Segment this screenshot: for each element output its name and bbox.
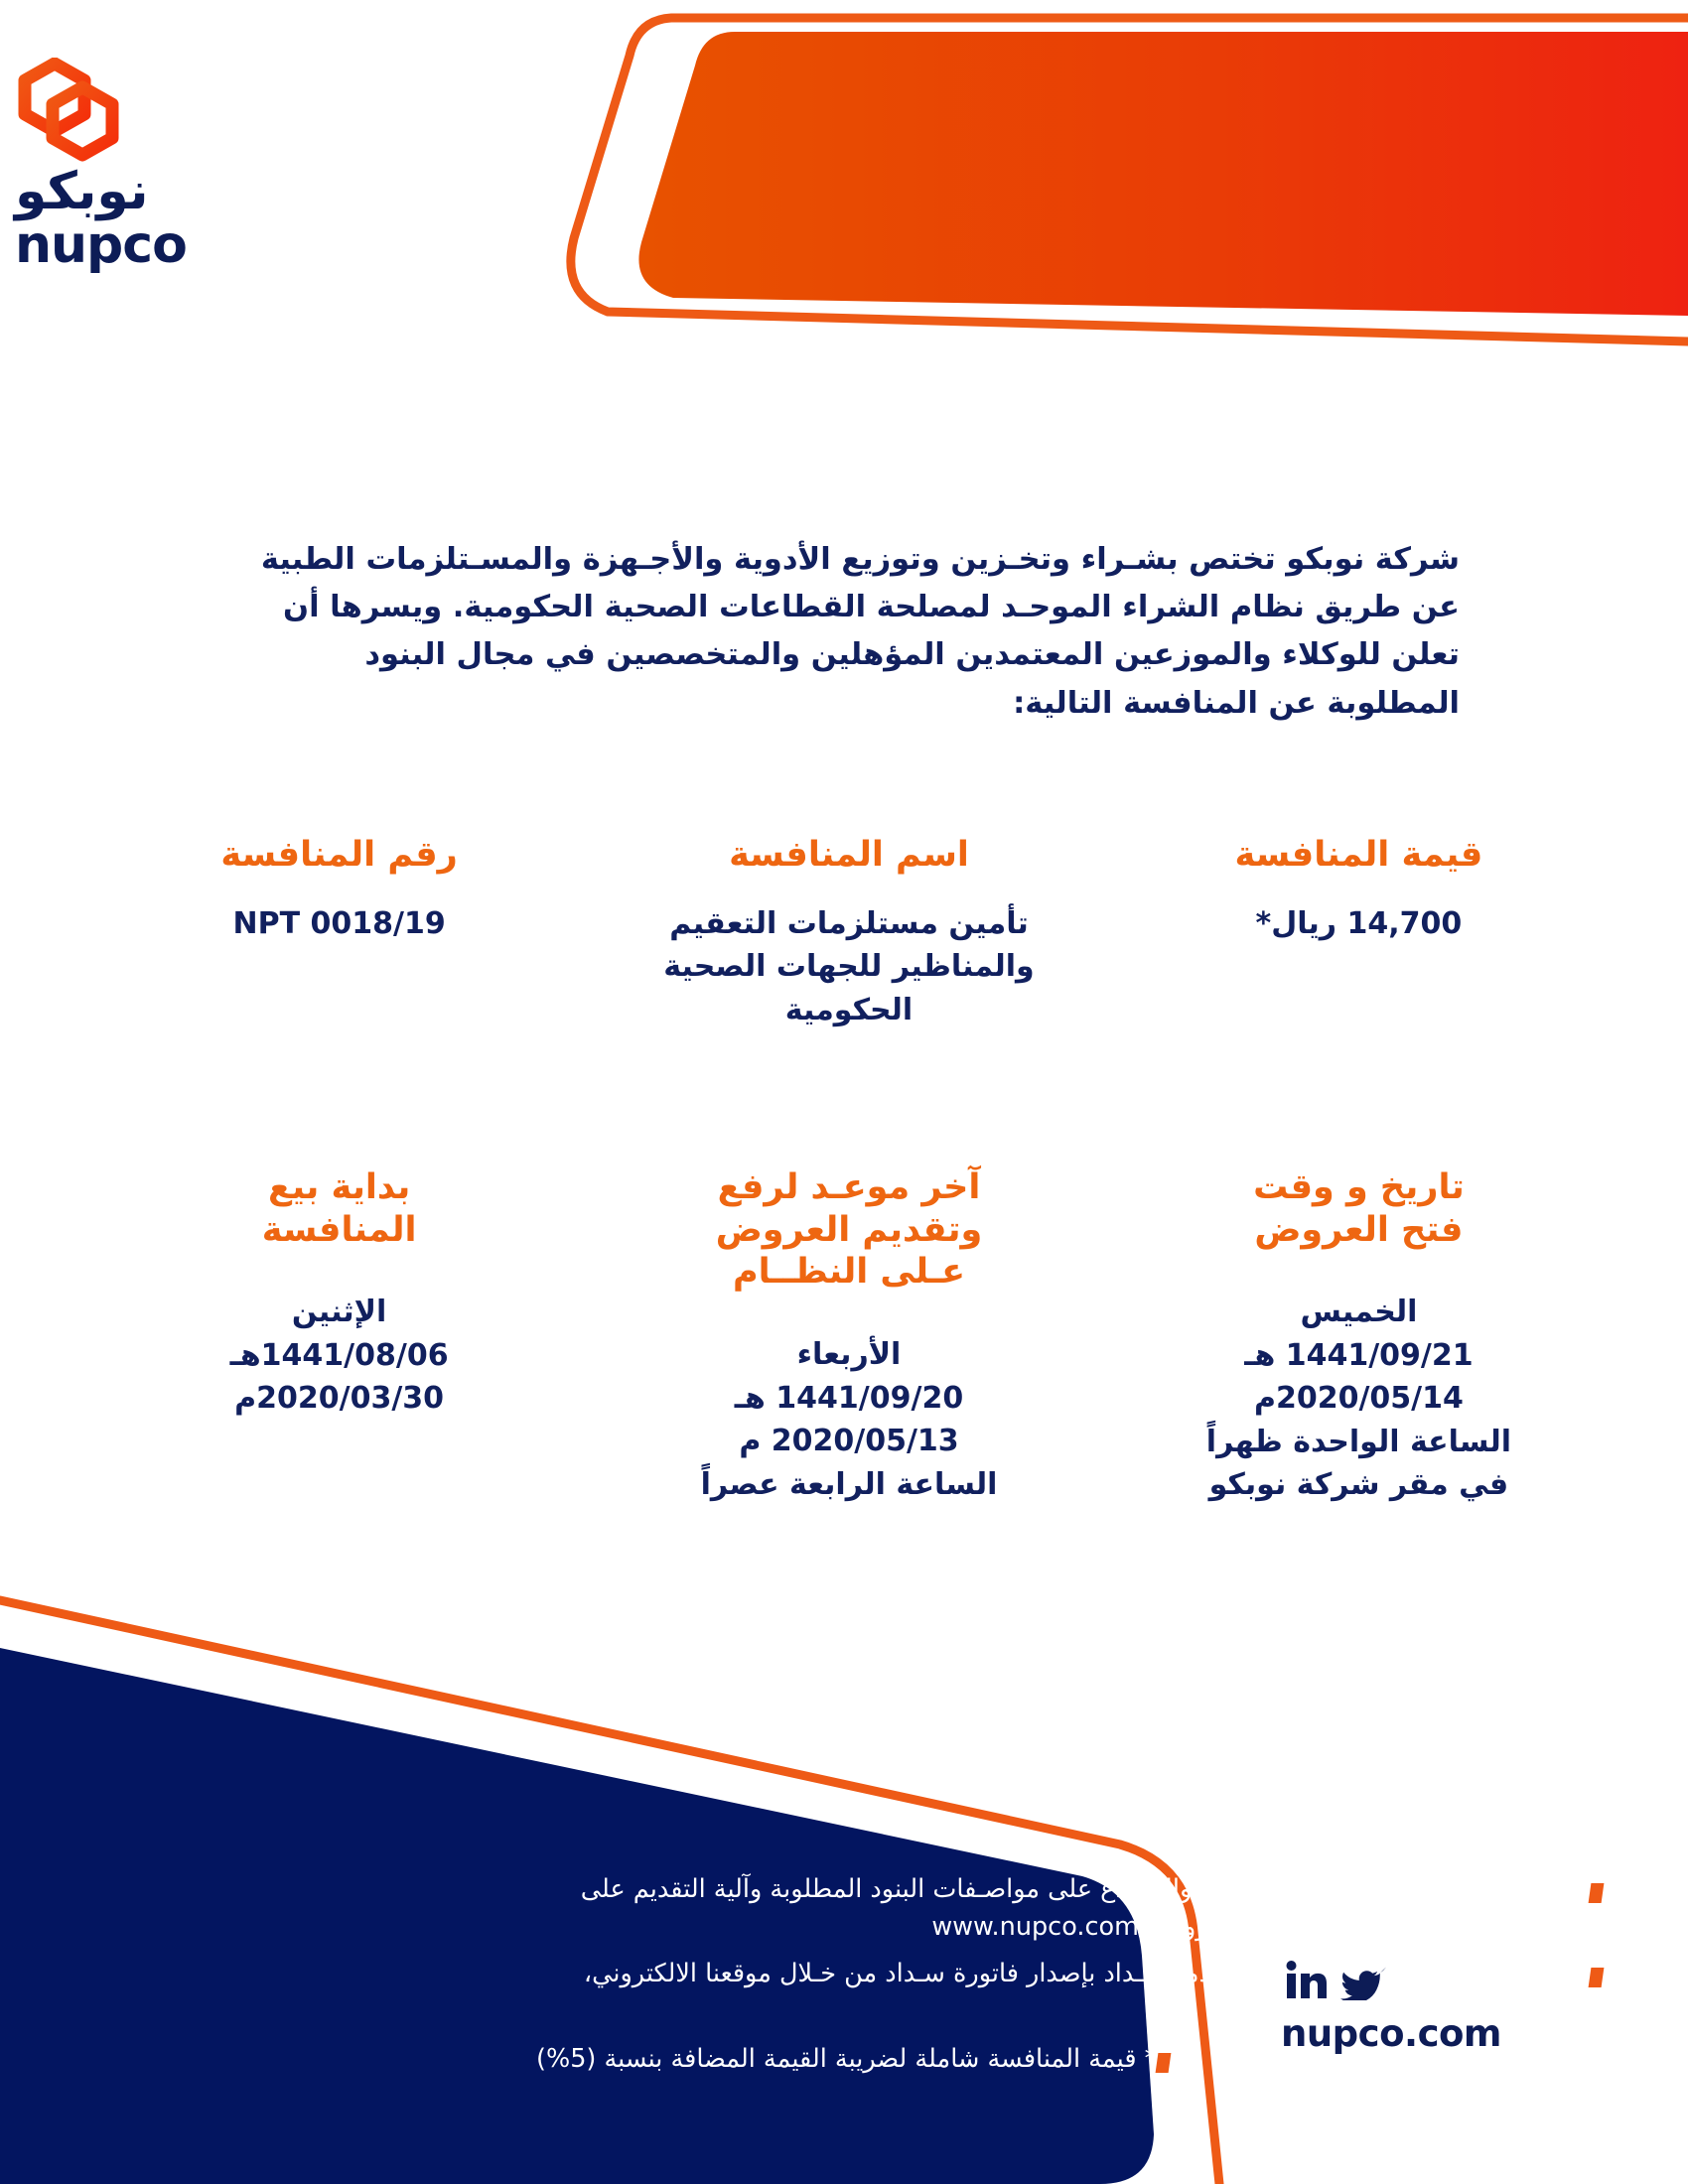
footer-website-text[interactable]: nupco.com xyxy=(1281,2012,1559,2055)
tender-details-row-2: تاريخ و وقت فتح العروض الخميس 1441/09/21… xyxy=(99,1166,1599,1507)
footer-note-text: * قيمة المنافسة شاملة لضريبة القيمة المض… xyxy=(536,2041,1157,2079)
field-tender-name: اسم المنافسة تأمين مستلزمات التعقيم والم… xyxy=(609,834,1088,1031)
tender-details-row-1: قيمة المنافسة 14,700 ريال* اسم المنافسة … xyxy=(99,834,1599,1031)
nupco-hexagon-mark xyxy=(15,58,124,162)
field-submission-deadline: آخر موعـد لرفع وتقديم العروض عـلى النظــ… xyxy=(609,1166,1088,1507)
field-value-sale-start: الإثنين 1441/08/06هـ 2020/03/30م xyxy=(99,1291,579,1421)
bullet-icon xyxy=(1156,2053,1172,2073)
field-value-submission-deadline: الأربعاء 1441/09/20 هـ 2020/05/13 م السا… xyxy=(609,1333,1088,1506)
field-sale-start: بداية بيع المنافسة الإثنين 1441/08/06هـ … xyxy=(99,1166,579,1507)
field-label-bid-opening: تاريخ و وقت فتح العروض xyxy=(1119,1166,1599,1251)
field-label-submission-deadline: آخر موعـد لرفع وتقديم العروض عـلى النظــ… xyxy=(609,1166,1088,1294)
field-label-tender-name: اسم المنافسة xyxy=(609,834,1088,877)
nupco-logo: نوبكو nupco xyxy=(15,58,243,271)
field-value-tender-name: تأمين مستلزمات التعقيم والمناظير للجهات … xyxy=(609,902,1088,1032)
intro-paragraph: شركة نوبكو تختص بشـراء وتخـزين وتوزيع ال… xyxy=(223,536,1460,728)
field-bid-opening: تاريخ و وقت فتح العروض الخميس 1441/09/21… xyxy=(1119,1166,1599,1507)
logo-latin-wordmark: nupco xyxy=(15,219,243,271)
bullet-icon xyxy=(1589,1883,1605,1903)
field-tender-value: قيمة المنافسة 14,700 ريال* xyxy=(1119,834,1599,1031)
banner-outline-stroke xyxy=(571,18,1688,341)
field-value-bid-opening: الخميس 1441/09/21 هـ 2020/05/14م الساعة … xyxy=(1119,1291,1599,1507)
logo-arabic-wordmark: نوبكو xyxy=(15,166,243,217)
banner-shape xyxy=(638,32,1688,316)
footer-social-block: nupco.com xyxy=(1281,1961,1559,2055)
header-banner: إعــلان منافسة xyxy=(0,0,1688,397)
field-value-tender-value: 14,700 ريال* xyxy=(1119,902,1599,946)
field-label-tender-value: قيمة المنافسة xyxy=(1119,834,1599,877)
field-value-tender-number: NPT 0018/19 xyxy=(99,902,579,946)
field-tender-number: رقم المنافسة NPT 0018/19 xyxy=(99,834,579,1031)
bullet-icon xyxy=(1589,1968,1605,1987)
field-label-sale-start: بداية بيع المنافسة xyxy=(99,1166,579,1251)
footer-note-text: للحـصول على معلومات عن المنافسة والاطـلا… xyxy=(536,1871,1590,1946)
linkedin-icon[interactable] xyxy=(1285,1961,1327,2000)
social-icon-group xyxy=(1281,1961,1559,2000)
twitter-icon[interactable] xyxy=(1340,1961,1386,2000)
footer-note-item: للحـصول على معلومات عن المنافسة والاطـلا… xyxy=(536,1871,1618,1946)
field-label-tender-number: رقم المنافسة xyxy=(99,834,579,877)
